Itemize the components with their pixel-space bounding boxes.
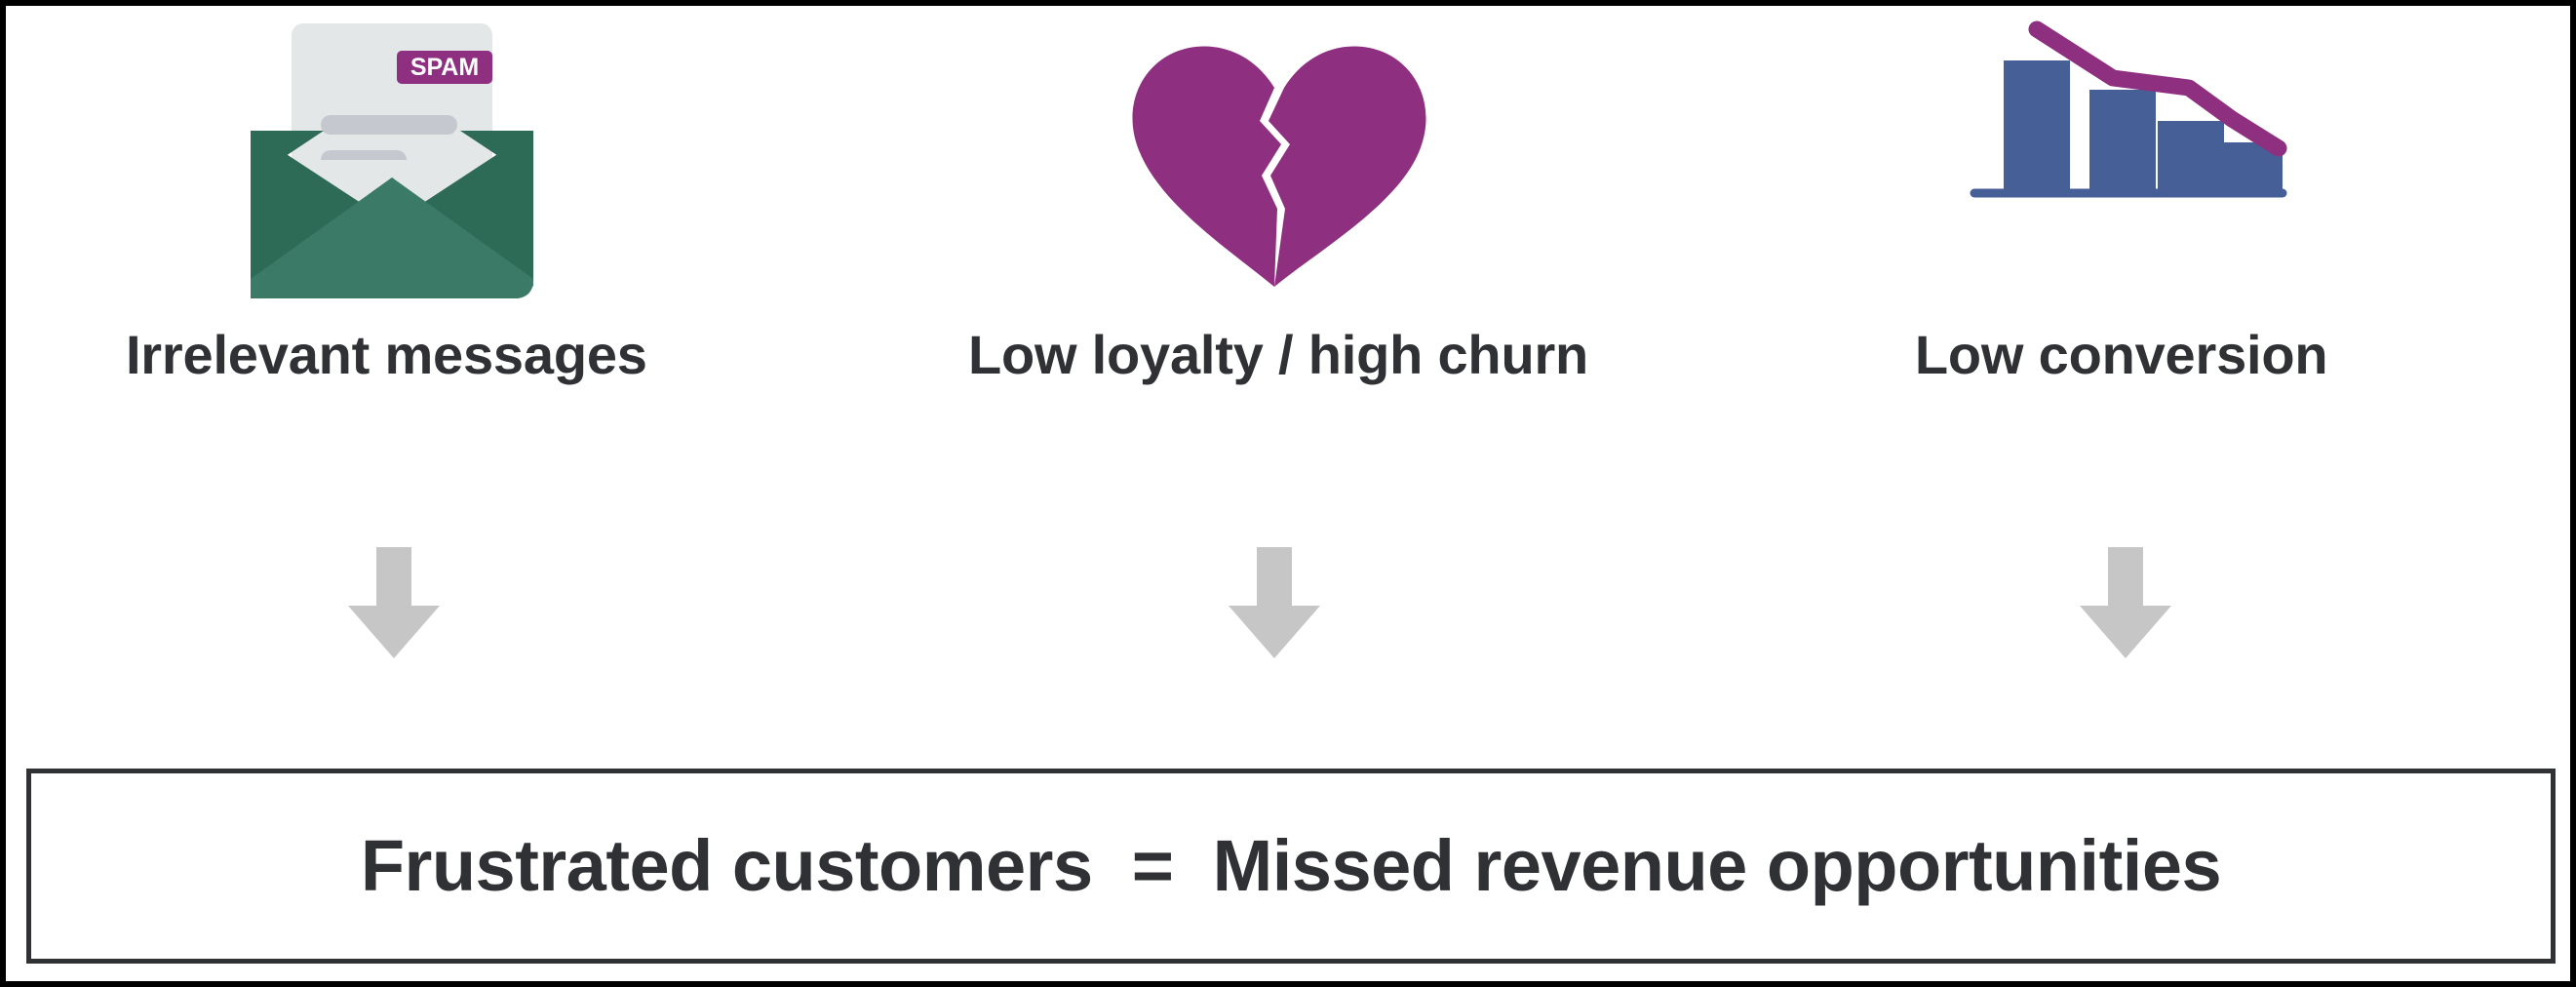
column-low-loyalty: Low loyalty / high churn (861, 6, 1716, 474)
arrow-row (6, 547, 2570, 684)
down-arrow-icon (346, 547, 442, 662)
broken-heart-icon (1113, 14, 1435, 306)
summary-banner: Frustrated customers = Missed revenue op… (26, 769, 2556, 964)
column-label-low-conversion: Low conversion (1915, 328, 2328, 382)
column-irrelevant-messages: SPAM Irrelevant messages (6, 6, 861, 474)
icon-slot-2 (1113, 6, 1435, 328)
arrow-cell-1 (0, 547, 822, 684)
icon-slot-3 (1967, 6, 2288, 328)
arrow-cell-2 (847, 547, 1702, 684)
chart-bar-2 (2089, 90, 2156, 189)
spam-envelope-icon: SPAM (231, 14, 553, 306)
summary-banner-text: Frustrated customers = Missed revenue op… (361, 830, 2221, 902)
problem-columns: SPAM Irrelevant messages (6, 6, 2570, 474)
arrow-cell-3 (1698, 547, 2553, 684)
declining-bar-chart-icon (1967, 14, 2288, 306)
down-arrow-icon (2078, 547, 2173, 662)
spam-badge-label: SPAM (410, 54, 479, 81)
icon-slot-1: SPAM (231, 6, 553, 328)
diagram-page: SPAM Irrelevant messages (0, 0, 2576, 987)
chart-bar-1 (2004, 60, 2070, 189)
paper-line-1 (321, 115, 457, 135)
column-label-low-loyalty: Low loyalty / high churn (968, 328, 1588, 382)
column-low-conversion: Low conversion (1715, 6, 2570, 474)
down-arrow-icon (1227, 547, 1322, 662)
chart-bar-3 (2158, 121, 2224, 189)
column-label-irrelevant-messages: Irrelevant messages (126, 328, 647, 382)
